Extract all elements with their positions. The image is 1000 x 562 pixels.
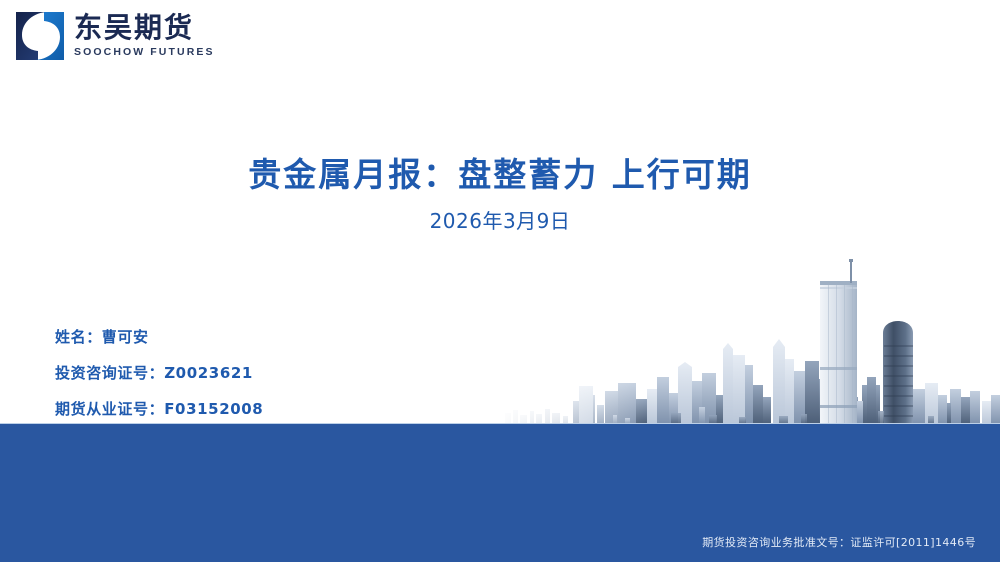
logo-name-cn: 东吴期货 xyxy=(74,14,215,42)
city-skyline-illustration xyxy=(495,255,1000,425)
page-title: 贵金属月报：盘整蓄力 上行可期 xyxy=(0,148,1000,196)
regulatory-footer: 期货投资咨询业务批准文号：证监许可[2011]1446号 xyxy=(702,534,976,550)
bottom-blue-band: 期货投资咨询业务批准文号：证监许可[2011]1446号 xyxy=(0,423,1000,562)
report-date: 2026年3月9日 xyxy=(0,205,1000,234)
author-name: 姓名：曹可安 xyxy=(55,326,263,347)
company-logo: 东吴期货 SOOCHOW FUTURES xyxy=(14,10,215,62)
reflection-fade-overlay xyxy=(0,423,1000,533)
advisory-license-number: 投资咨询证号：Z0023621 xyxy=(55,362,263,383)
author-info: 姓名：曹可安 投资咨询证号：Z0023621 期货从业证号：F03152008 xyxy=(55,326,263,419)
logo-name-en: SOOCHOW FUTURES xyxy=(74,47,215,58)
presentation-cover-slide: 东吴期货 SOOCHOW FUTURES 贵金属月报：盘整蓄力 上行可期 202… xyxy=(0,0,1000,562)
futures-license-number: 期货从业证号：F03152008 xyxy=(55,398,263,419)
soochow-s-swirl-icon xyxy=(14,10,66,62)
